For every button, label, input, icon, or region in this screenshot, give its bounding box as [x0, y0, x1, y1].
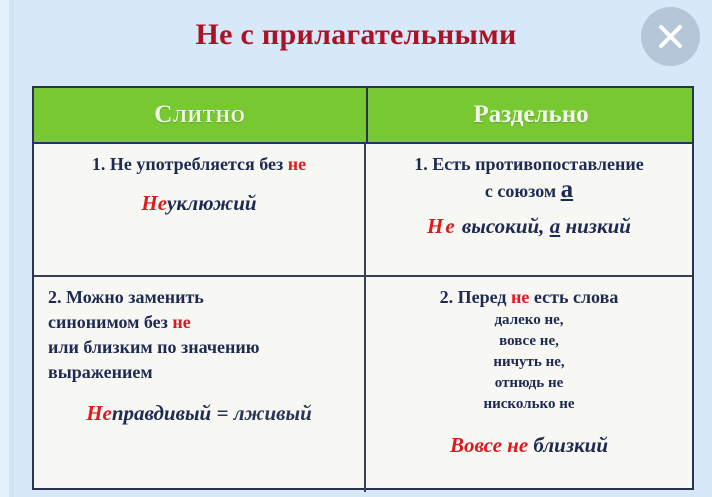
- rule-2-right-prefix: 2. Перед: [440, 287, 511, 307]
- rule-1-left-prefix: 1. Не употребляется без: [92, 154, 288, 174]
- table-body: 1. Не употребляется без не Неуклюжий 1. …: [34, 144, 692, 492]
- cell-slitno-rule-2: 2. Можно заменить синонимом без не или б…: [34, 277, 366, 492]
- slide-canvas: Не с прилагательными Слитно Раздельно 1.…: [0, 0, 712, 497]
- column-header-slitno: Слитно: [34, 88, 368, 142]
- column-header-razdelno: Раздельно: [368, 88, 694, 142]
- left-edge-strip: [0, 0, 9, 497]
- example-1-left: Неуклюжий: [44, 191, 354, 216]
- cell-razdelno-rule-2: 2. Перед не есть слова далеко не, вовсе …: [366, 277, 692, 492]
- example-2-left-rest: правдивый: [112, 401, 211, 425]
- rule-2-right-highlight: не: [511, 287, 529, 307]
- table-header-row: Слитно Раздельно: [34, 88, 692, 144]
- list-item: отнюдь не: [376, 373, 682, 394]
- example-2-right-highlight: Вовсе не: [450, 433, 528, 457]
- list-item: нисколько не: [376, 394, 682, 415]
- example-1-right-highlight: Не: [427, 214, 457, 238]
- example-2-right: Вовсе не близкий: [376, 433, 682, 458]
- table-row: 2. Можно заменить синонимом без не или б…: [34, 277, 692, 492]
- rule-text-1-right-line2: с союзом а: [376, 177, 682, 204]
- example-2-left-equals: = лживый: [211, 401, 312, 425]
- example-2-left: Неправдивый = лживый: [44, 401, 354, 426]
- page-title: Не с прилагательными: [0, 18, 712, 52]
- example-1-left-highlight: Не: [141, 191, 167, 215]
- example-1-right-rest-1: высокий,: [462, 214, 550, 238]
- list-item: вовсе не,: [376, 331, 682, 352]
- negation-word-list: далеко не, вовсе не, ничуть не, отнюдь н…: [376, 310, 682, 415]
- rule-text-2-left-line2: синонимом без не: [44, 310, 354, 335]
- rules-table: Слитно Раздельно 1. Не употребляется без…: [32, 86, 694, 490]
- example-2-right-rest: близкий: [528, 433, 608, 457]
- rule-1-right-conjunction: а: [561, 176, 574, 203]
- rule-text-1-right-line1: 1. Есть противопоставление: [376, 152, 682, 177]
- rule-2-right-suffix: есть слова: [529, 287, 618, 307]
- rule-text-2-left-line3: или близким по значению: [44, 335, 354, 360]
- cell-razdelno-rule-1: 1. Есть противопоставление с союзом а Не…: [366, 144, 692, 275]
- example-1-right: Не высокий, а низкий: [376, 214, 682, 239]
- list-item: далеко не,: [376, 310, 682, 331]
- cell-slitno-rule-1: 1. Не употребляется без не Неуклюжий: [34, 144, 366, 275]
- rule-1-right-line2-prefix: с союзом: [485, 181, 561, 201]
- table-row: 1. Не употребляется без не Неуклюжий 1. …: [34, 144, 692, 277]
- rule-2-left-line2-prefix: синонимом без: [48, 312, 172, 332]
- example-1-right-conjunction: а: [550, 214, 561, 238]
- example-1-right-rest-2: низкий: [560, 214, 631, 238]
- rule-2-left-highlight: не: [172, 312, 190, 332]
- rule-text-1-left: 1. Не употребляется без не: [44, 152, 354, 177]
- example-2-left-highlight: Не: [86, 401, 112, 425]
- rule-text-2-left-line1: 2. Можно заменить: [44, 285, 354, 310]
- rule-1-left-highlight: не: [288, 154, 306, 174]
- rule-text-2-right: 2. Перед не есть слова: [376, 285, 682, 310]
- example-1-left-rest: уклюжий: [167, 191, 257, 215]
- list-item: ничуть не,: [376, 352, 682, 373]
- rule-text-2-left-line4: выражением: [44, 360, 354, 385]
- left-edge-strip-2: [9, 0, 14, 497]
